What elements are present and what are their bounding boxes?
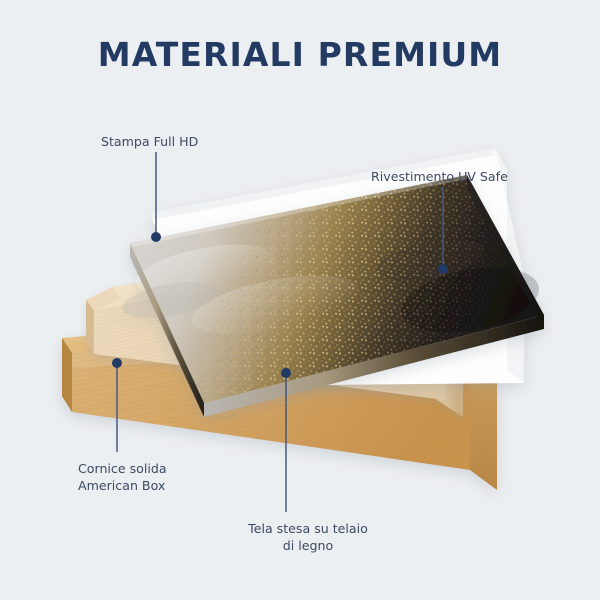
callout-label-tela-stesa-su-telaio: Tela stesa su telaio di legno bbox=[221, 521, 395, 554]
callout-label-rivestimento-uv-safe: Rivestimento UV Safe bbox=[371, 169, 508, 186]
exploded-product-diagram bbox=[0, 0, 600, 600]
callout-label-cornice-solida-american-box: Cornice solida American Box bbox=[78, 461, 167, 494]
callout-label-stampa-full-hd: Stampa Full HD bbox=[101, 134, 198, 151]
materials-infographic: MATERIALI PREMIUM bbox=[0, 0, 600, 600]
